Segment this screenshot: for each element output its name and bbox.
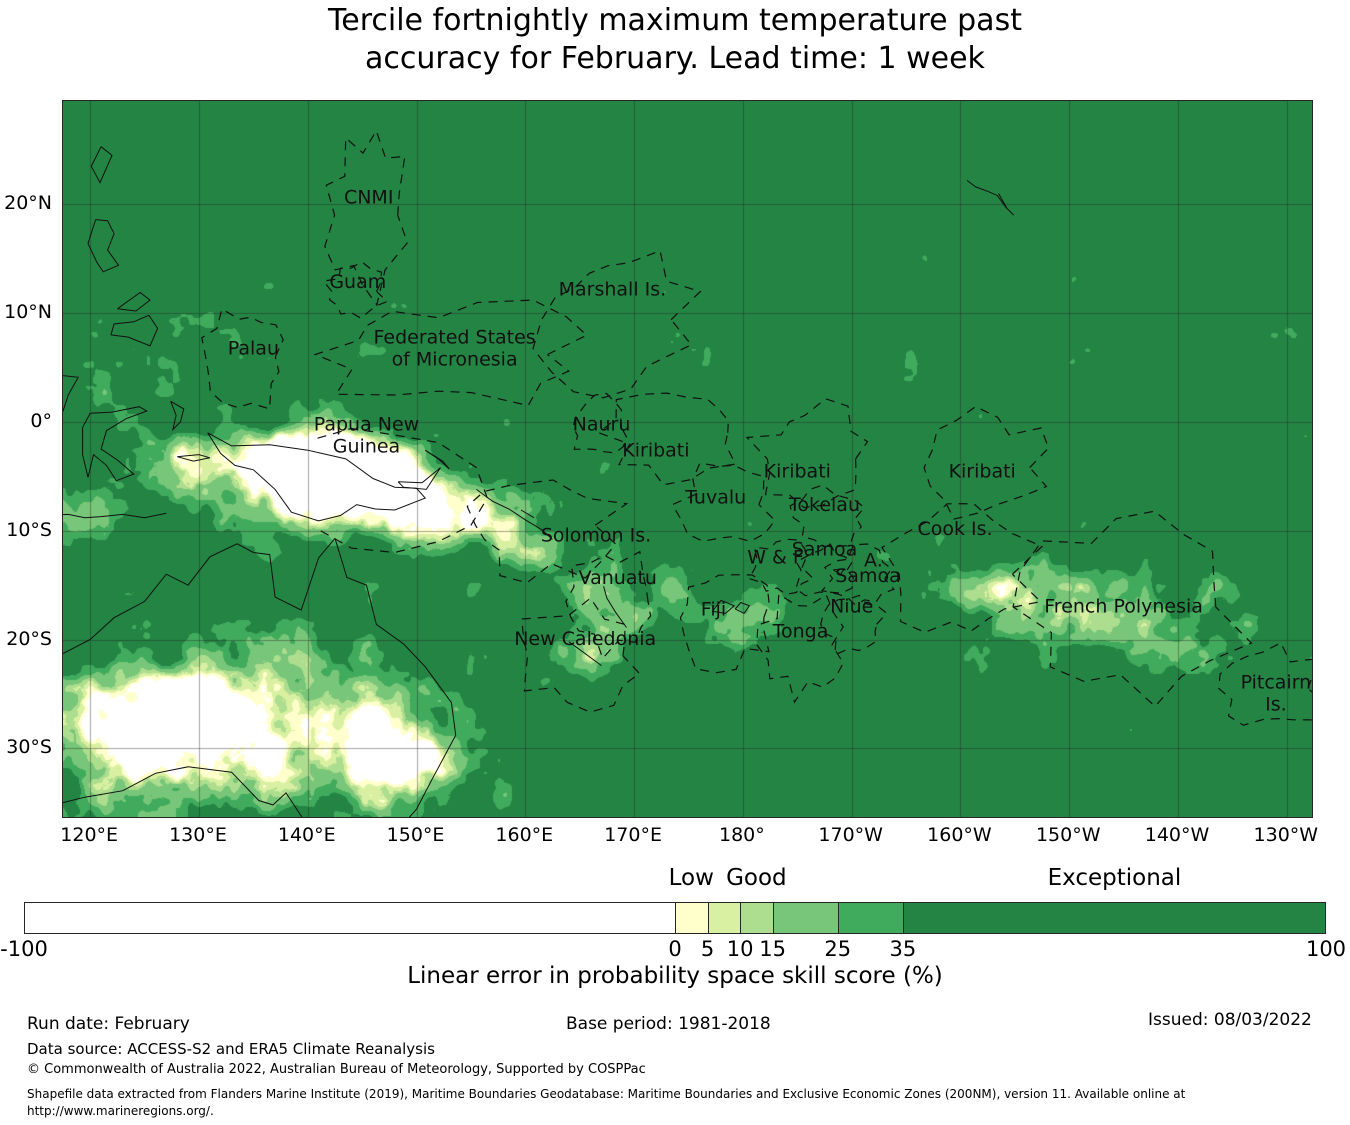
region-label: Marshall Is. [559, 279, 667, 301]
coastline [604, 586, 627, 627]
colorbar-segment [25, 903, 675, 933]
map-panel[interactable]: CNMIGuamPalauMarshall Is.Federated State… [62, 100, 1313, 818]
region-label: Niue [830, 595, 873, 617]
region-label: W & F [747, 546, 804, 568]
colorbar-segment [903, 903, 1326, 933]
coastline [735, 603, 749, 614]
colorbar-category-label: Good [726, 865, 787, 891]
coastline [88, 220, 119, 272]
x-tick-label: 130°W [1254, 824, 1319, 846]
colorbar-tick-label: 10 [727, 937, 754, 961]
colorbar-tick-label: 0 [668, 937, 681, 961]
colorbar-category-label: Low [669, 865, 714, 891]
region-label: Tonga [772, 620, 829, 642]
colorbar-segment [838, 903, 903, 933]
colorbar-category-label: Exceptional [1048, 865, 1182, 891]
region-label: Samoa [835, 565, 900, 587]
coastline [967, 180, 1014, 215]
y-tick-label: 10°S [0, 519, 52, 541]
issued-date-text: Issued: 08/03/2022 [1148, 1010, 1312, 1030]
region-label: CNMI [344, 186, 393, 208]
region-label: Solomon Is. [541, 525, 651, 547]
region-label: New Caledonia [514, 628, 656, 650]
skill-score-map-figure: Tercile fortnightly maximum temperature … [0, 0, 1350, 1125]
y-tick-label: 0° [0, 410, 52, 432]
eez-boundary [747, 399, 868, 508]
x-tick-label: 140°E [278, 824, 336, 846]
colorbar-tick-label: 15 [759, 937, 786, 961]
region-label: Cook Is. [917, 518, 992, 540]
coastline [521, 510, 534, 518]
region-label: Guam [329, 271, 386, 293]
region-label: Federated Statesof Micronesia [373, 327, 535, 371]
colorbar-segment [740, 903, 773, 933]
region-label: Tokelau [788, 494, 860, 516]
coastline [177, 455, 210, 462]
map-vector-overlay: CNMIGuamPalauMarshall Is.Federated State… [63, 101, 1313, 818]
coastline [63, 369, 78, 459]
coastline [111, 315, 158, 346]
region-label: Kiribati [764, 460, 831, 482]
colorbar-segment [708, 903, 741, 933]
y-tick-label: 10°N [0, 301, 52, 323]
x-tick-label: 140°W [1145, 824, 1210, 846]
coastline [398, 468, 440, 490]
eez-boundary [681, 575, 770, 673]
data-source-text: Data source: ACCESS-S2 and ERA5 Climate … [27, 1040, 435, 1058]
page-title: Tercile fortnightly maximum temperature … [0, 2, 1350, 78]
x-tick-label: 120°E [60, 824, 118, 846]
x-tick-label: 130°E [169, 824, 227, 846]
colorbar-tick-label: 35 [889, 937, 916, 961]
shapefile-credit-text: Shapefile data extracted from Flanders M… [27, 1086, 1185, 1120]
x-tick-label: 160°E [495, 824, 553, 846]
x-tick-label: 150°W [1036, 824, 1101, 846]
region-label: French Polynesia [1044, 595, 1203, 617]
colorbar-tick-label: 25 [824, 937, 851, 961]
colorbar-segment [675, 903, 708, 933]
region-label: Papua NewGuinea [314, 414, 419, 458]
region-label: Vanuatu [579, 567, 657, 589]
y-tick-label: 20°S [0, 628, 52, 650]
colorbar-tick-label: 5 [701, 937, 714, 961]
eez-boundary [522, 598, 640, 712]
eez-boundary [533, 251, 700, 398]
x-tick-label: 170°W [818, 824, 883, 846]
y-tick-label: 20°N [0, 192, 52, 214]
colorbar-axis-label: Linear error in probability space skill … [0, 963, 1350, 989]
colorbar[interactable] [24, 902, 1326, 934]
copyright-text: © Commonwealth of Australia 2022, Austra… [27, 1062, 646, 1077]
region-label: PitcairnIs. [1241, 672, 1312, 716]
coastline [63, 538, 335, 653]
region-label: Palau [228, 338, 279, 360]
coastline [117, 293, 150, 312]
region-label: Tuvalu [684, 487, 746, 509]
x-tick-label: 180° [719, 824, 765, 846]
region-label: Nauru [573, 414, 631, 436]
region-label: Fiji [701, 599, 726, 621]
colorbar-tick-label: 100 [1306, 937, 1346, 961]
base-period-text: Base period: 1981-2018 [566, 1014, 771, 1034]
coastline [171, 401, 184, 429]
run-date-text: Run date: February [27, 1014, 190, 1034]
coastline [83, 407, 147, 481]
colorbar-tick-label: -100 [0, 937, 48, 961]
coastline [63, 538, 456, 818]
y-tick-label: 30°S [0, 736, 52, 758]
x-tick-label: 160°W [927, 824, 992, 846]
coastline [63, 513, 166, 517]
colorbar-gradient [24, 902, 1326, 934]
coastline [425, 450, 449, 469]
x-tick-label: 150°E [387, 824, 445, 846]
coastline [91, 147, 112, 183]
region-label: Kiribati [949, 460, 1016, 482]
region-label: Kiribati [622, 440, 689, 462]
x-tick-label: 170°E [604, 824, 662, 846]
colorbar-segment [773, 903, 838, 933]
